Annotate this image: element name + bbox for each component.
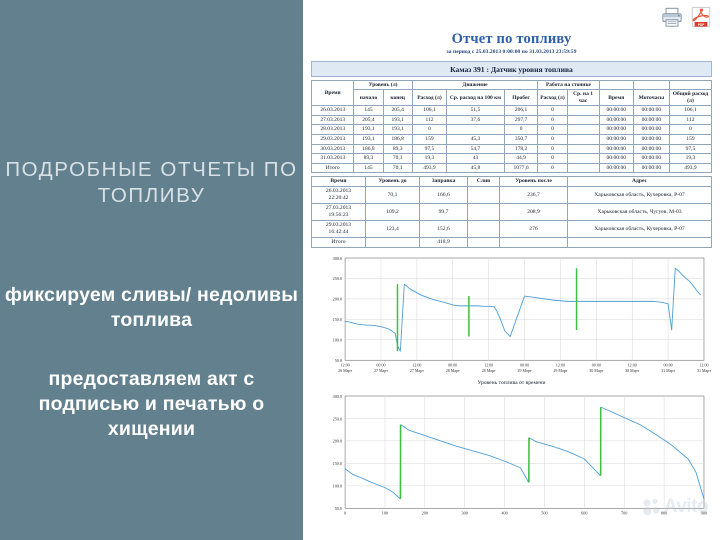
pdf-icon[interactable]: PDF: [690, 6, 712, 28]
report-title: Отчет по топливу: [309, 0, 714, 48]
cell-level-end: 193,1: [383, 125, 412, 135]
table-row: 29.03.2013193,1186,815945,3350,7000:00:0…: [312, 135, 712, 145]
col-event-time: Время: [312, 177, 366, 187]
x-tick-time: 00:00: [592, 363, 601, 368]
cell-address: Харьковская область, Кучеровка, Р-07: [568, 187, 712, 204]
y-tick-label: 100.0: [333, 338, 342, 343]
group-blank-1: [599, 81, 633, 90]
cell-mileage: 350,7: [504, 135, 538, 145]
table-row: 28.03.2013193,1193,100000:00:0000:00:000: [312, 125, 712, 135]
fuel-level-time-chart: 300.0250.0200.0150.0100.050.012:0026 Мар…: [311, 254, 712, 385]
cell-idle-consum: 0: [538, 154, 567, 164]
x-tick-time: 00:00: [520, 363, 529, 368]
x-tick-time: 00:00: [664, 363, 673, 368]
promo-headline: ПОДРОБНЫЕ ОТЧЕТЫ ПО ТОПЛИВУ: [0, 157, 303, 209]
cell-avg-hour: [567, 144, 599, 154]
pdf-badge-label: PDF: [698, 23, 705, 27]
y-tick-label: 50.0: [335, 506, 342, 511]
promo-tagline-1: фиксируем сливы/ недоливы топлива: [0, 283, 303, 333]
cell-consum: 19,3: [412, 154, 446, 164]
report-object-bar: Камаз 391 : Датчик уровня топлива: [311, 61, 712, 77]
group-blank-2: [633, 81, 669, 90]
cell-idle-time: 00:00:00: [599, 106, 633, 116]
col-idle-time: Время: [599, 90, 633, 106]
cell-consum: 0: [412, 125, 446, 135]
fuel-table-group-row: Время Уровень (л) Движение Работа на сто…: [312, 81, 712, 90]
cell-date: 26.03.2013: [312, 106, 354, 116]
cell-drain: [468, 204, 500, 221]
fuel-report-panel: PDF Отчет по топливу за период с 25.03.2…: [303, 0, 720, 540]
table-row: 27.03.201319:56:23109,299,7208,9Харьковс…: [312, 204, 712, 221]
cell-idle-time: 00:00:00: [599, 163, 633, 173]
refuel-table-col-row: Время Уровень до Заправка Слив Уровень п…: [312, 177, 712, 187]
cell-engine-hours: 00:00:00: [633, 144, 669, 154]
cell-avg100: 45,8: [447, 163, 505, 173]
col-level-end: конец: [383, 90, 412, 106]
cell-idle-consum: 0: [538, 163, 567, 173]
y-tick-label: 250.0: [333, 416, 342, 421]
y-tick-label: 300.0: [333, 256, 342, 261]
cell-idle-consum: 0: [538, 106, 567, 116]
y-tick-label: 200.0: [333, 297, 342, 302]
cell-drain: [468, 238, 500, 248]
cell-consum: 112: [412, 115, 446, 125]
left-promo-panel: ПОДРОБНЫЕ ОТЧЕТЫ ПО ТОПЛИВУ фиксируем сл…: [0, 0, 303, 540]
cell-avg100: 45,3: [447, 135, 505, 145]
cell-idle-consum: 0: [538, 135, 567, 145]
x-tick-date: 29 Март: [518, 368, 532, 373]
group-blank-3: [669, 81, 711, 90]
x-tick-date: 27 Март: [410, 368, 424, 373]
cell-level-before: 123,4: [366, 221, 420, 238]
fuel-level-mileage-chart: 300.0250.0200.0150.0100.050.001002003004…: [311, 392, 712, 520]
x-tick-label: 600: [581, 510, 587, 515]
cell-event-time: 27.03.201319:56:23: [312, 204, 366, 221]
cell-refuel: 418,9: [420, 238, 468, 248]
x-tick-time: 12:00: [341, 363, 350, 368]
cell-level-start: 186,8: [354, 144, 383, 154]
cell-event-time: 26.03.201322:20:42: [312, 187, 366, 204]
cell-consum: 97,5: [412, 144, 446, 154]
col-level-before: Уровень до: [366, 177, 420, 187]
cell-level-start: 145: [354, 106, 383, 116]
cell-avg-hour: [567, 115, 599, 125]
x-tick-time: 12:00: [699, 363, 708, 368]
cell-level-after: 276: [500, 221, 568, 238]
cell-drain: [468, 221, 500, 238]
x-tick-label: 400: [501, 510, 507, 515]
cell-level-end: 186,8: [383, 135, 412, 145]
cell-mileage: 0: [504, 125, 538, 135]
col-address: Адрес: [568, 177, 712, 187]
slide-root: ПОДРОБНЫЕ ОТЧЕТЫ ПО ТОПЛИВУ фиксируем сл…: [0, 0, 720, 540]
x-tick-label: 700: [621, 510, 627, 515]
cell-avg100: 37,6: [447, 115, 505, 125]
col-time: Время: [312, 81, 354, 106]
cell-total-consum: 493,9: [669, 163, 711, 173]
cell-avg-hour: [567, 154, 599, 164]
cell-level-before: 70,1: [366, 187, 420, 204]
printer-icon[interactable]: [661, 6, 683, 28]
x-tick-time: 00:00: [376, 363, 385, 368]
table-row: 30.03.2013186,889,397,554,7178,2000:00:0…: [312, 144, 712, 154]
y-tick-label: 250.0: [333, 277, 342, 282]
col-refuel: Заправка: [420, 177, 468, 187]
cell-engine-hours: 00:00:00: [633, 106, 669, 116]
refuel-table-body: 26.03.201322:20:4270,1166,6236,7Харьковс…: [312, 187, 712, 248]
cell-mileage: 206,1: [504, 106, 538, 116]
chart1-svg: 300.0250.0200.0150.0100.050.012:0026 Мар…: [311, 254, 712, 378]
cell-address: [568, 238, 712, 248]
table-row: 26.03.201322:20:4270,1166,6236,7Харьковс…: [312, 187, 712, 204]
cell-level-after: 208,9: [500, 204, 568, 221]
x-tick-date: 30 Март: [625, 368, 639, 373]
cell-total-consum: 0: [669, 125, 711, 135]
cell-refuel: 99,7: [420, 204, 468, 221]
cell-level-end: 70,1: [383, 154, 412, 164]
y-tick-label: 150.0: [333, 461, 342, 466]
promo-tagline-2: предоставляем акт с подписью и печатью о…: [0, 367, 303, 442]
cell-date: 29.03.2013: [312, 135, 354, 145]
cell-mileage: 178,2: [504, 144, 538, 154]
y-tick-label: 150.0: [333, 318, 342, 323]
x-tick-time: 12:00: [556, 363, 565, 368]
x-tick-date: 28 Март: [446, 368, 460, 373]
cell-total-consum: 106,1: [669, 106, 711, 116]
cell-refuel: 166,6: [420, 187, 468, 204]
cell-level-after: 236,7: [500, 187, 568, 204]
cell-address: Харьковская область, Чугуев, М-03: [568, 204, 712, 221]
table-total-row: Итого418,9: [312, 238, 712, 248]
cell-level-after: [500, 238, 568, 248]
cell-engine-hours: 00:00:00: [633, 115, 669, 125]
cell-idle-consum: 0: [538, 115, 567, 125]
cell-total-label: Итого: [312, 238, 366, 248]
cell-avg100: [447, 125, 505, 135]
x-tick-date: 30 Март: [589, 368, 603, 373]
cell-idle-time: 00:00:00: [599, 125, 633, 135]
col-engine-hours: Моточасы: [633, 90, 669, 106]
cell-avg100: 43: [447, 154, 505, 164]
cell-avg100: 54,7: [447, 144, 505, 154]
col-level-after: Уровень после: [500, 177, 568, 187]
cell-avg-hour: [567, 135, 599, 145]
chart1-caption: Уровень топлива от времени: [311, 380, 712, 386]
x-tick-label: 300: [462, 510, 468, 515]
cell-level-start: 193,1: [354, 135, 383, 145]
refuel-table-head: Время Уровень до Заправка Слив Уровень п…: [312, 177, 712, 187]
x-tick-label: 0: [344, 510, 346, 515]
report-subtitle: за период с 25.03.2013 0:00:00 по 31.03.…: [309, 49, 714, 55]
col-avg-hour: Ср. на 1 час: [567, 90, 599, 106]
cell-level-start: 205,4: [354, 115, 383, 125]
cell-engine-hours: 00:00:00: [633, 154, 669, 164]
x-tick-time: 12:00: [484, 363, 493, 368]
cell-level-end: 89,3: [383, 144, 412, 154]
group-movement: Движение: [412, 81, 538, 90]
fuel-table-body: 26.03.2013145205,4106,151,5206,1000:00:0…: [312, 106, 712, 173]
cell-engine-hours: 00:00:00: [633, 163, 669, 173]
x-tick-date: 28 Март: [482, 368, 496, 373]
col-avg-100km: Ср. расход на 100 км: [447, 90, 505, 106]
group-level: Уровень (л): [354, 81, 412, 90]
y-tick-label: 100.0: [333, 483, 342, 488]
cell-address: Харьковская область, Кучеровка, Р-07: [568, 221, 712, 238]
x-tick-time: 00:00: [448, 363, 457, 368]
x-tick-label: 100: [382, 510, 388, 515]
cell-total-consum: 159: [669, 135, 711, 145]
cell-date: 28.03.2013: [312, 125, 354, 135]
cell-mileage: 44,9: [504, 154, 538, 164]
cell-avg100: 51,5: [447, 106, 505, 116]
cell-level-start: 89,3: [354, 154, 383, 164]
refuel-events-table: Время Уровень до Заправка Слив Уровень п…: [311, 176, 712, 248]
cell-level-start: 193,1: [354, 125, 383, 135]
cell-idle-time: 00:00:00: [599, 115, 633, 125]
col-total-consum: Общий расход (л): [669, 90, 711, 106]
x-tick-time: 12:00: [628, 363, 637, 368]
cell-idle-time: 00:00:00: [599, 135, 633, 145]
cell-date: 30.03.2013: [312, 144, 354, 154]
cell-avg-hour: [567, 163, 599, 173]
cell-drain: [468, 187, 500, 204]
cell-mileage: 297,7: [504, 115, 538, 125]
cell-event-time: 29.03.201316:42:44: [312, 221, 366, 238]
y-tick-label: 200.0: [333, 438, 342, 443]
x-tick-label: 500: [541, 510, 547, 515]
x-tick-label: 800: [661, 510, 667, 515]
col-drain: Слив: [468, 177, 500, 187]
cell-date: 31.03.2013: [312, 154, 354, 164]
col-level-start: начало: [354, 90, 383, 106]
cell-consum: 493,9: [412, 163, 446, 173]
cell-total-label: Итого: [312, 163, 354, 173]
cell-total-consum: 97,5: [669, 144, 711, 154]
cell-consum: 106,1: [412, 106, 446, 116]
x-tick-date: 27 Март: [374, 368, 388, 373]
cell-date: 27.03.2013: [312, 115, 354, 125]
col-mileage: Пробег: [504, 90, 538, 106]
table-total-row: Итого14570,1493,945,81077,6000:00:0000:0…: [312, 163, 712, 173]
cell-idle-time: 00:00:00: [599, 144, 633, 154]
cell-total-consum: 112: [669, 115, 711, 125]
cell-total-consum: 19,3: [669, 154, 711, 164]
cell-level-end: 205,4: [383, 106, 412, 116]
cell-refuel: 152,6: [420, 221, 468, 238]
group-idle: Работа на стоянке: [538, 81, 599, 90]
cell-level-end: 70,1: [383, 163, 412, 173]
table-row: 29.03.201316:42:44123,4152,6276Харьковск…: [312, 221, 712, 238]
fuel-table-col-row: начало конец Расход (л) Ср. расход на 10…: [312, 90, 712, 106]
table-row: 26.03.2013145205,4106,151,5206,1000:00:0…: [312, 106, 712, 116]
table-row: 27.03.2013205,4193,111237,6297,7000:00:0…: [312, 115, 712, 125]
cell-level-before: 109,2: [366, 204, 420, 221]
x-tick-date: 31 Март: [697, 368, 711, 373]
cell-avg-hour: [567, 125, 599, 135]
chart2-svg: 300.0250.0200.0150.0100.050.001002003004…: [311, 392, 712, 520]
cell-engine-hours: 00:00:00: [633, 125, 669, 135]
fuel-table-head: Время Уровень (л) Движение Работа на сто…: [312, 81, 712, 106]
cell-mileage: 1077,6: [504, 163, 538, 173]
x-tick-time: 12:00: [412, 363, 421, 368]
cell-avg-hour: [567, 106, 599, 116]
cell-idle-consum: 0: [538, 144, 567, 154]
y-tick-label: 300.0: [333, 393, 342, 398]
cell-idle-time: 00:00:00: [599, 154, 633, 164]
x-tick-date: 26 Март: [338, 368, 352, 373]
x-tick-label: 900: [701, 510, 707, 515]
x-tick-date: 29 Март: [553, 368, 567, 373]
cell-level-before: [366, 238, 420, 248]
cell-idle-consum: 0: [538, 125, 567, 135]
cell-level-start: 145: [354, 163, 383, 173]
cell-level-end: 193,1: [383, 115, 412, 125]
x-tick-date: 31 Март: [661, 368, 675, 373]
fuel-summary-table: Время Уровень (л) Движение Работа на сто…: [311, 80, 712, 173]
col-consum: Расход (л): [412, 90, 446, 106]
table-row: 31.03.201389,370,119,34344,9000:00:0000:…: [312, 154, 712, 164]
report-toolbar: PDF: [661, 6, 712, 28]
x-tick-label: 200: [422, 510, 428, 515]
col-idle-consum: Расход (л): [538, 90, 567, 106]
cell-consum: 159: [412, 135, 446, 145]
cell-engine-hours: 00:00:00: [633, 135, 669, 145]
